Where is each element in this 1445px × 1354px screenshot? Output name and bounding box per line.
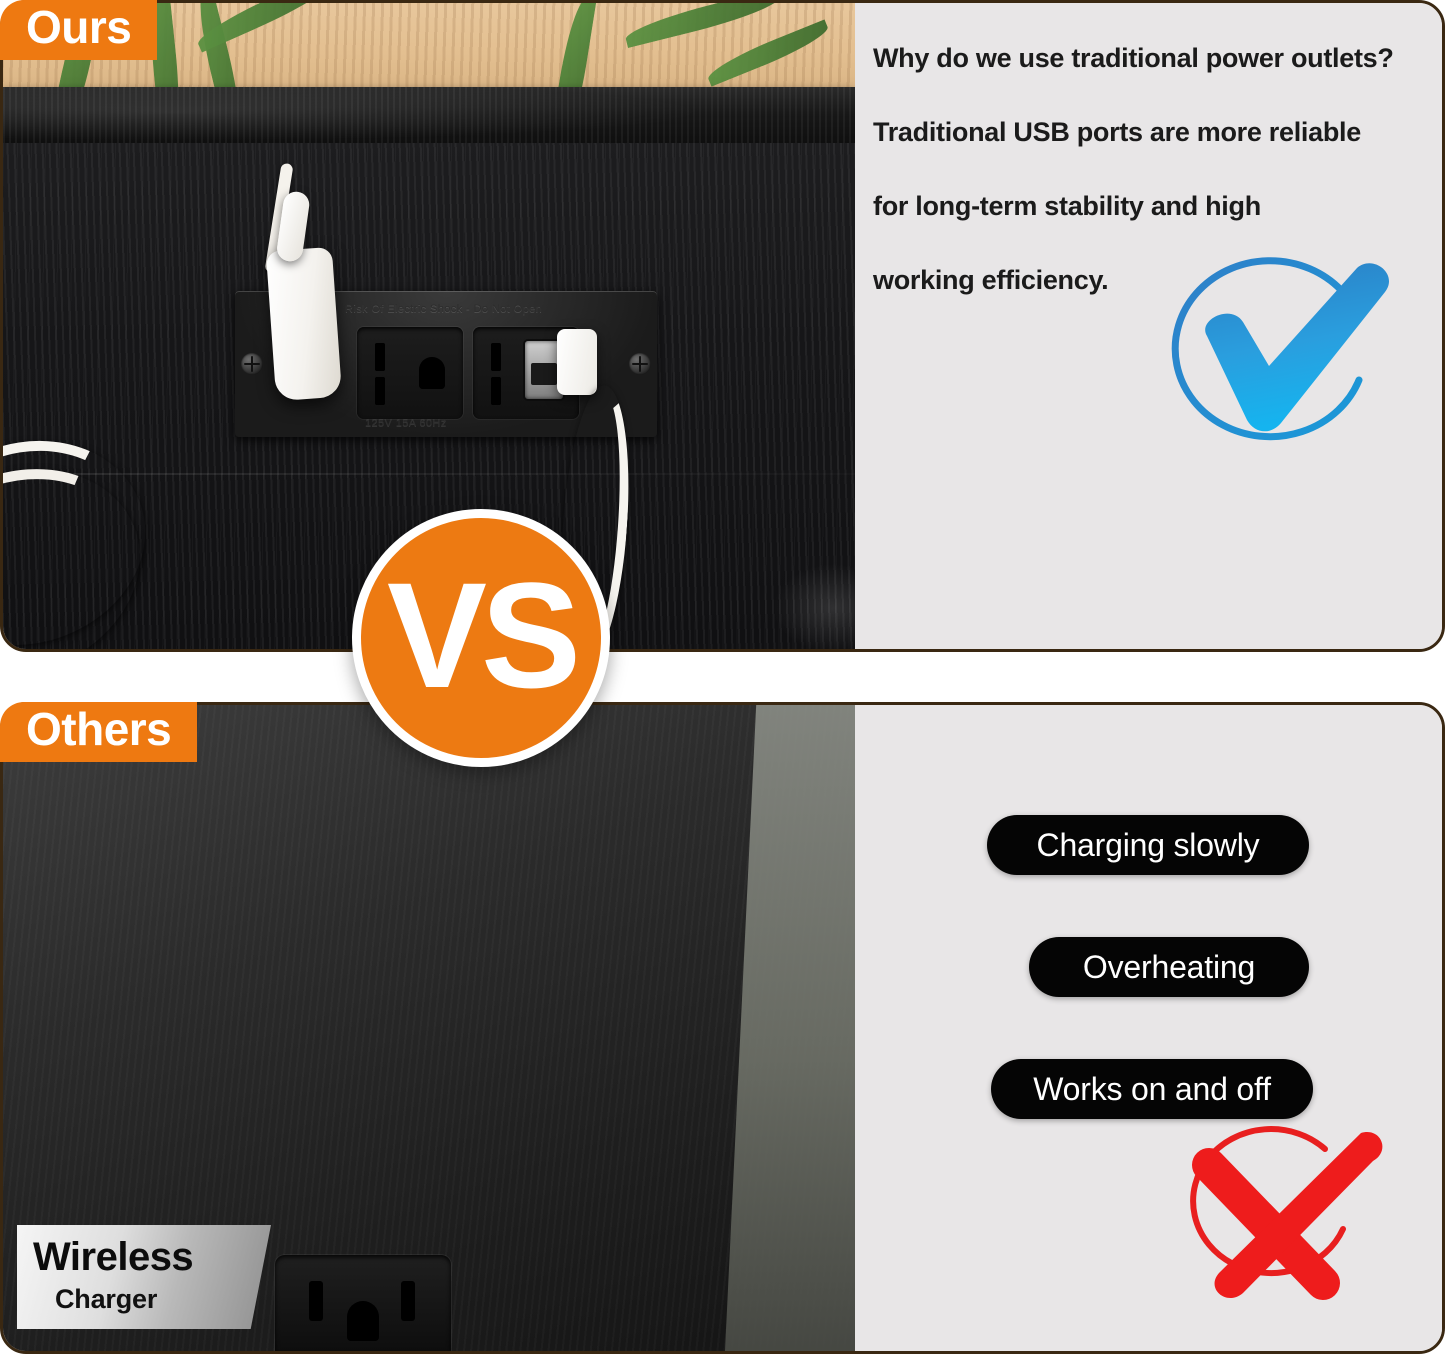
socket-ground-slot (347, 1301, 379, 1341)
socket-ground-slot (419, 357, 445, 389)
corner-label-others: Others (0, 702, 197, 762)
desk-highlight (773, 563, 855, 649)
socket-slot (309, 1281, 323, 1321)
panel-ours: Risk Of Electric Shock - Do Not Open 125… (0, 0, 1445, 652)
plaque-line-2: Charger (55, 1284, 271, 1315)
socket-slot (491, 377, 501, 405)
others-text-side: Charging slowly Overheating Works on and… (855, 705, 1442, 1351)
panel-others: Wireless Charger Charging slowly Overhea… (0, 702, 1445, 1354)
ours-copy-line: Why do we use traditional power outlets? (873, 43, 1424, 74)
ours-text-side: Why do we use traditional power outlets?… (855, 3, 1442, 649)
issue-pill: Works on and off (991, 1059, 1313, 1119)
others-photo: Wireless Charger (3, 705, 855, 1351)
socket-slot (375, 343, 385, 371)
desk-edge (3, 87, 855, 149)
white-usb-plug (557, 329, 597, 395)
ours-copy-line: for long-term stability and high (873, 191, 1424, 222)
socket-slot (375, 377, 385, 405)
socket-slot (401, 1281, 415, 1321)
socket-slot (491, 343, 501, 371)
screw-icon (629, 353, 651, 375)
ac-socket (357, 327, 463, 419)
vs-badge-label: VS (387, 560, 575, 710)
outlet-warning-text: Risk Of Electric Shock - Do Not Open (345, 303, 645, 315)
white-charger-plug (266, 247, 342, 401)
screw-icon (241, 353, 263, 375)
ac-socket (275, 1255, 451, 1351)
blue-check-icon (1145, 248, 1405, 478)
wireless-charger-plaque: Wireless Charger (17, 1225, 271, 1329)
corner-label-ours: Ours (0, 0, 157, 60)
issue-pill: Overheating (1029, 937, 1309, 997)
plaque-line-1: Wireless (33, 1237, 271, 1277)
vs-badge: VS (352, 509, 610, 767)
red-cross-icon (1147, 1125, 1397, 1325)
issue-pill: Charging slowly (987, 815, 1309, 875)
comparison-infographic: Risk Of Electric Shock - Do Not Open 125… (0, 0, 1445, 1354)
ours-copy-line: Traditional USB ports are more reliable (873, 117, 1424, 148)
